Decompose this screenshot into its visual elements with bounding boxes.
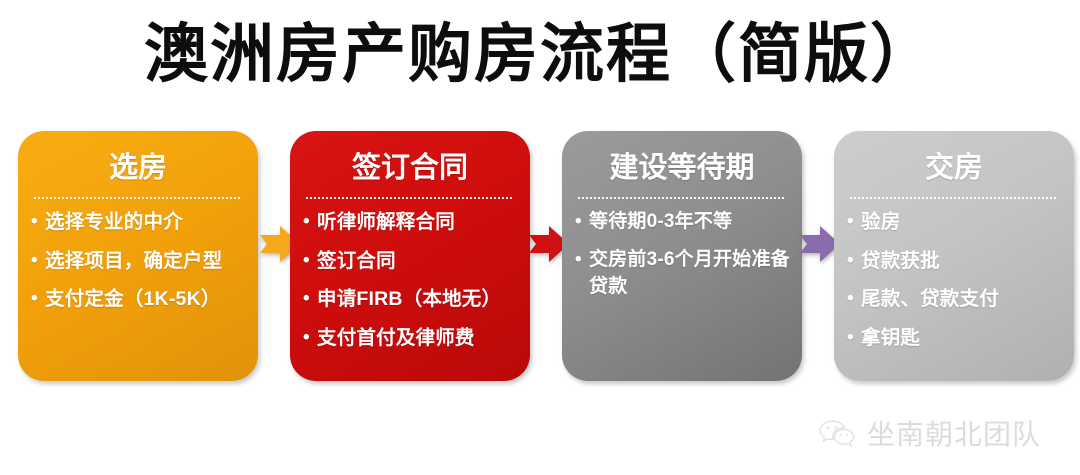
list-item: 签订合同 <box>302 248 518 276</box>
step-card-handover: 交房 验房 贷款获批 尾款、贷款支付 拿钥匙 <box>834 131 1074 381</box>
list-item: 交房前3-6个月开始准备贷款 <box>574 247 790 301</box>
list-item: 贷款获批 <box>846 248 1062 276</box>
step-title: 交房 <box>846 141 1062 189</box>
step-card-select-property: 选房 选择专业的中介 选择项目，确定户型 支付定金（1K-5K） <box>18 131 258 381</box>
list-item: 尾款、贷款支付 <box>846 286 1062 314</box>
list-item: 选择项目，确定户型 <box>30 248 246 276</box>
step-title: 建设等待期 <box>574 141 790 189</box>
step-title: 签订合同 <box>302 141 518 189</box>
brand-name: 坐南朝北团队 <box>867 413 1041 453</box>
list-item: 申请FIRB（本地无） <box>302 286 518 314</box>
page-title: 澳洲房产购房流程（简版） <box>0 20 1080 90</box>
step-card-sign-contract: 签订合同 听律师解释合同 签订合同 申请FIRB（本地无） 支付首付及律师费 <box>290 131 530 381</box>
list-item: 验房 <box>846 209 1062 237</box>
step-bullet-list: 选择专业的中介 选择项目，确定户型 支付定金（1K-5K） <box>30 209 246 314</box>
step-bullet-list: 等待期0-3年不等 交房前3-6个月开始准备贷款 <box>574 209 790 301</box>
step-title: 选房 <box>30 141 246 189</box>
step-bullet-list: 听律师解释合同 签订合同 申请FIRB（本地无） 支付首付及律师费 <box>302 209 518 353</box>
list-item: 等待期0-3年不等 <box>574 209 790 236</box>
flowchart-canvas: 澳洲房产购房流程（简版） 选房 选择专业的中介 选择项目，确定户型 支付定金（1… <box>0 0 1080 475</box>
step-divider <box>34 197 242 199</box>
step-divider <box>306 197 514 199</box>
list-item: 听律师解释合同 <box>302 209 518 237</box>
footer-brand: 坐南朝北团队 <box>818 413 1041 453</box>
step-divider <box>578 197 786 199</box>
list-item: 支付定金（1K-5K） <box>30 286 246 314</box>
step-bullet-list: 验房 贷款获批 尾款、贷款支付 拿钥匙 <box>846 209 1062 353</box>
list-item: 拿钥匙 <box>846 325 1062 353</box>
list-item: 选择专业的中介 <box>30 209 246 237</box>
step-card-construction-wait: 建设等待期 等待期0-3年不等 交房前3-6个月开始准备贷款 <box>562 131 802 381</box>
wechat-icon <box>818 418 858 448</box>
step-divider <box>850 197 1058 199</box>
list-item: 支付首付及律师费 <box>302 325 518 353</box>
